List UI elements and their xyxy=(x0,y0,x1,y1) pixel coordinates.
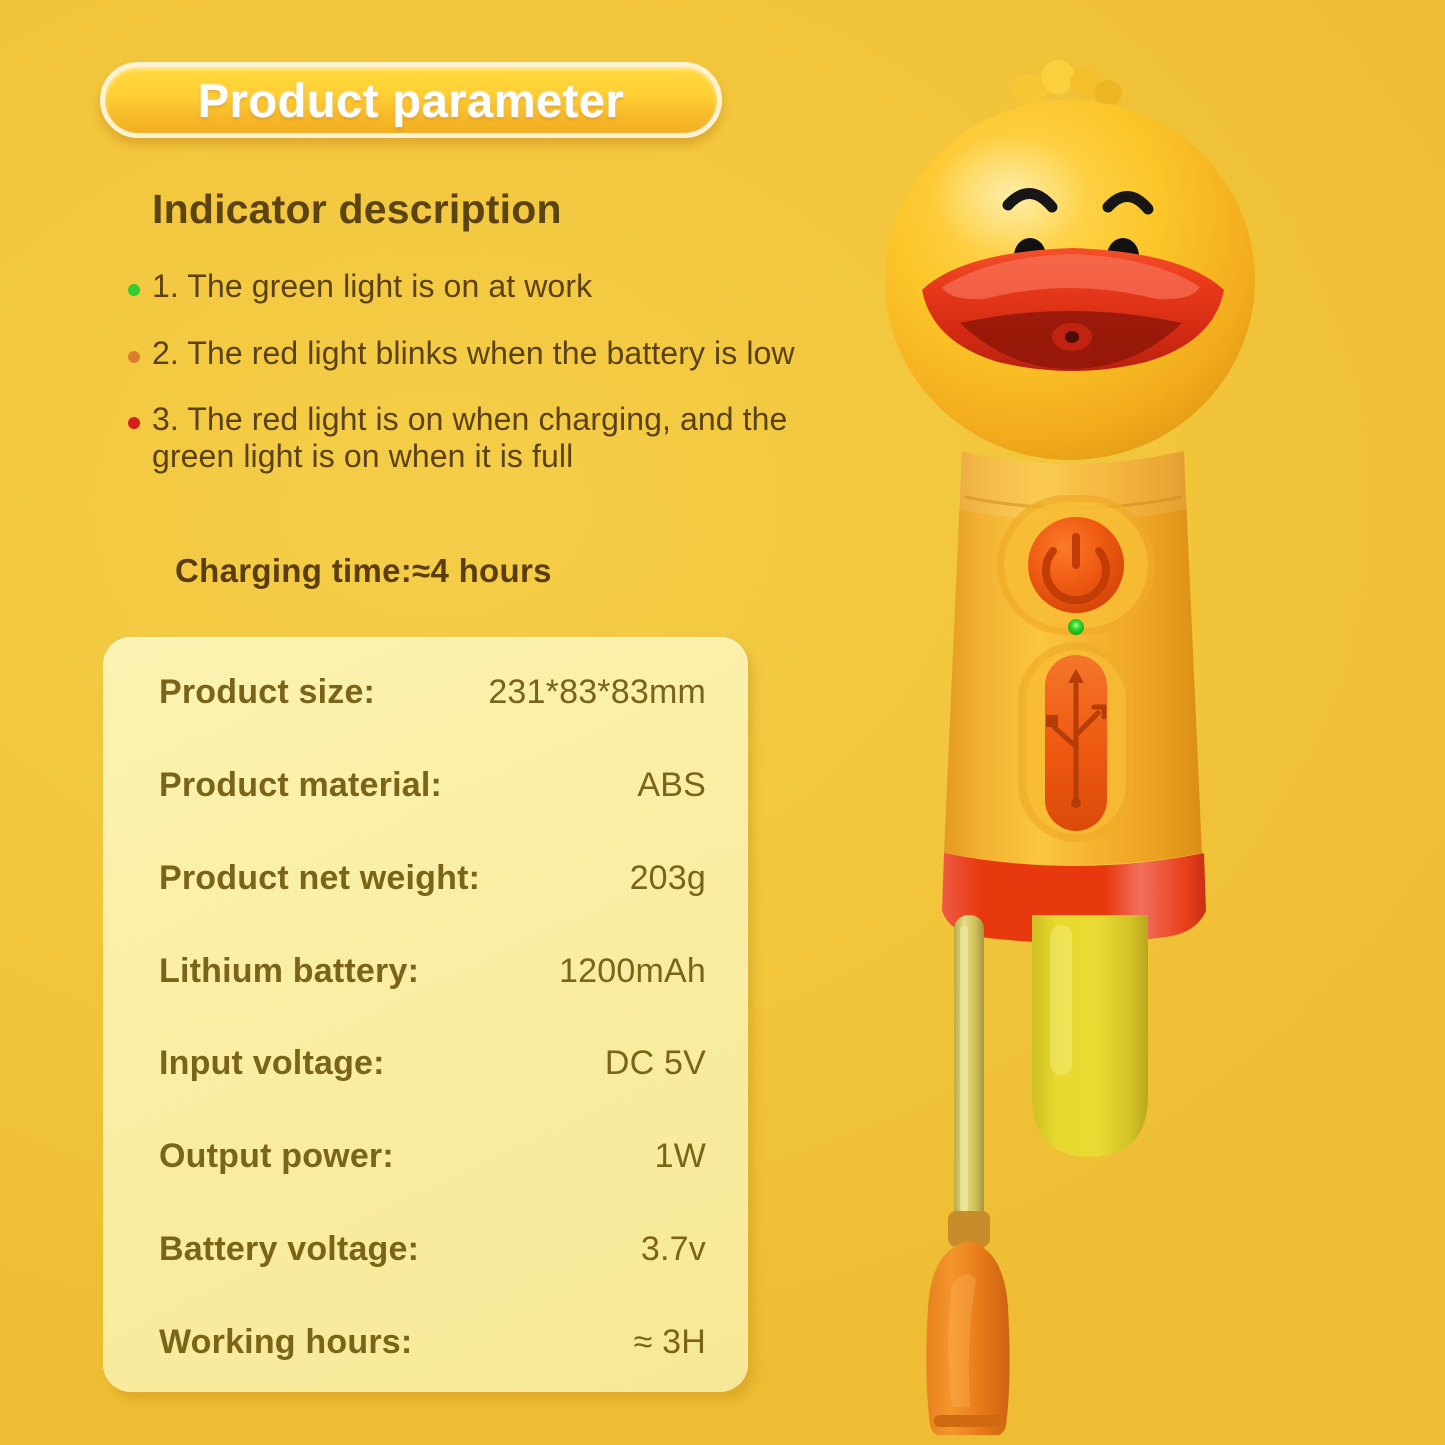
spec-value: DC 5V xyxy=(605,1044,706,1083)
spec-row-output-power: Output power: 1W xyxy=(159,1137,706,1176)
indicator-description-list: 1. The green light is on at work 2. The … xyxy=(128,268,828,506)
spec-label: Output power: xyxy=(159,1137,394,1176)
stirrer-paddle xyxy=(926,915,1009,1435)
spec-label: Lithium battery: xyxy=(159,952,419,991)
orange-indicator-dot xyxy=(128,351,140,363)
spec-value: 203g xyxy=(630,859,706,898)
charging-time-label: Charging time:≈4 hours xyxy=(175,552,552,590)
usb-port-cover[interactable] xyxy=(1018,642,1134,842)
list-item: 2. The red light blinks when the battery… xyxy=(128,335,828,372)
spec-value: ABS xyxy=(637,766,706,805)
indicator-description-heading: Indicator description xyxy=(152,186,562,233)
spec-label: Product net weight: xyxy=(159,859,480,898)
page-title: Product parameter xyxy=(198,73,624,128)
spec-row-product-material: Product material: ABS xyxy=(159,766,706,805)
spec-value: ≈ 3H xyxy=(634,1323,706,1362)
page-title-badge: Product parameter xyxy=(100,62,722,138)
spec-value: 1200mAh xyxy=(559,952,706,991)
list-item: 3. The red light is on when charging, an… xyxy=(128,401,828,476)
spec-row-input-voltage: Input voltage: DC 5V xyxy=(159,1044,706,1083)
spec-value: 1W xyxy=(655,1137,706,1176)
spec-label: Input voltage: xyxy=(159,1044,385,1083)
spec-row-lithium-battery: Lithium battery: 1200mAh xyxy=(159,952,706,991)
product-parameter-infographic: Product parameter Indicator description … xyxy=(0,0,1445,1445)
product-photo-duck-whisk xyxy=(880,35,1300,1435)
spec-value: 231*83*83mm xyxy=(488,673,706,712)
spec-row-product-net-weight: Product net weight: 203g xyxy=(159,859,706,898)
spec-label: Product material: xyxy=(159,766,442,805)
charging-led xyxy=(1068,619,1084,635)
spec-label: Product size: xyxy=(159,673,375,712)
spec-row-product-size: Product size: 231*83*83mm xyxy=(159,673,706,712)
list-item: 1. The green light is on at work xyxy=(128,268,828,305)
list-item-label: 1. The green light is on at work xyxy=(152,268,592,305)
whisk-head xyxy=(1032,915,1148,1157)
spec-label: Battery voltage: xyxy=(159,1230,419,1269)
spec-row-battery-voltage: Battery voltage: 3.7v xyxy=(159,1230,706,1269)
list-item-label: 3. The red light is on when charging, an… xyxy=(152,401,792,476)
green-indicator-dot xyxy=(128,284,140,296)
spec-value: 3.7v xyxy=(641,1230,706,1269)
list-item-label: 2. The red light blinks when the battery… xyxy=(152,335,795,372)
duck-hair-tuft xyxy=(1012,60,1122,106)
spec-label: Working hours: xyxy=(159,1323,412,1362)
red-indicator-dot xyxy=(128,417,140,429)
specification-card: Product size: 231*83*83mm Product materi… xyxy=(103,637,748,1392)
power-button[interactable] xyxy=(997,495,1155,635)
spec-row-working-hours: Working hours: ≈ 3H xyxy=(159,1323,706,1362)
